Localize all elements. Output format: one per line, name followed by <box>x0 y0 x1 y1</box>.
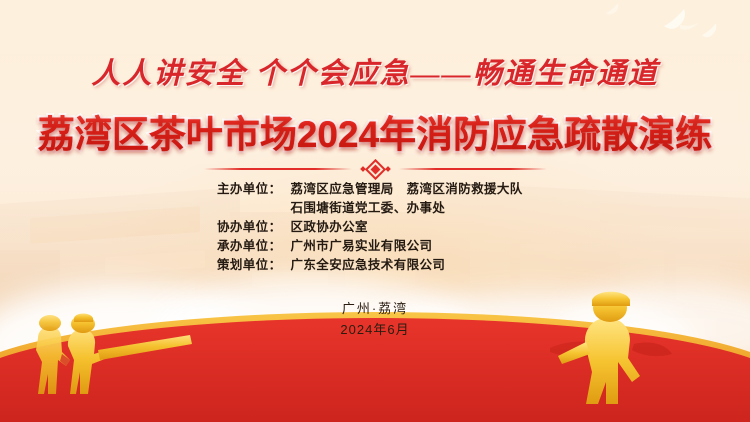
diamond-ornament-icon <box>361 162 390 177</box>
slogan-text: 人人讲安全 个个会应急——畅通生命通道 <box>0 50 750 92</box>
divider-line-left <box>204 168 352 170</box>
organizer-row: 策划单位： 广东全安应急技术有限公司 <box>0 256 750 275</box>
poster-content: 人人讲安全 个个会应急——畅通生命通道 荔湾区茶叶市场2024年消防应急疏散演练… <box>0 0 750 422</box>
organizer-label: 协办单位： <box>212 218 282 237</box>
event-date: 2024年6月 <box>0 319 750 340</box>
organizer-value: 荔湾区应急管理局 荔湾区消防救援大队 <box>282 180 539 199</box>
organizer-row: 主办单位： 荔湾区应急管理局 荔湾区消防救援大队 <box>0 180 750 199</box>
organizer-row: 承办单位： 广州市广易实业有限公司 <box>0 237 750 256</box>
decorative-divider <box>0 162 750 176</box>
organizer-label <box>212 199 282 218</box>
organizer-row: 协办单位： 区政协办公室 <box>0 218 750 237</box>
fire-drill-poster: 人人讲安全 个个会应急——畅通生命通道 荔湾区茶叶市场2024年消防应急疏散演练… <box>0 0 750 422</box>
divider-line-right <box>399 168 547 170</box>
event-location-date: 广州·荔湾 2024年6月 <box>0 298 750 340</box>
organizer-label: 策划单位： <box>212 256 282 275</box>
organizer-value: 广东全安应急技术有限公司 <box>282 256 539 275</box>
organizer-value: 区政协办公室 <box>282 218 539 237</box>
organizer-label: 承办单位： <box>212 237 282 256</box>
event-location: 广州·荔湾 <box>0 298 750 319</box>
page-title: 荔湾区茶叶市场2024年消防应急疏散演练 <box>0 104 750 158</box>
organizer-list: 主办单位： 荔湾区应急管理局 荔湾区消防救援大队 石围塘街道党工委、办事处 协办… <box>0 180 750 275</box>
organizer-value: 石围塘街道党工委、办事处 <box>282 199 539 218</box>
organizer-row: 石围塘街道党工委、办事处 <box>0 199 750 218</box>
organizer-value: 广州市广易实业有限公司 <box>282 237 539 256</box>
organizer-label: 主办单位： <box>212 180 282 199</box>
